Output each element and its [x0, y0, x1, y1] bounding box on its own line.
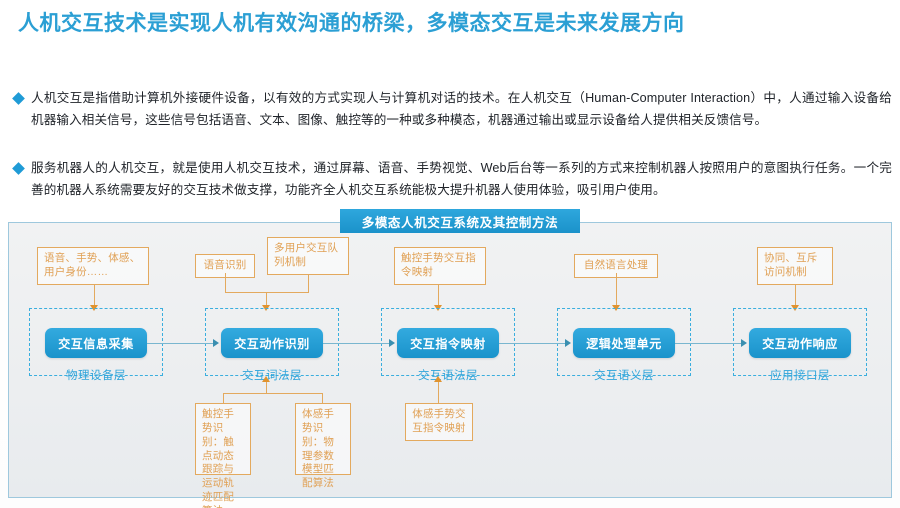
annotation-box-modalities: 语音、手势、体感、用户身份…… [37, 247, 149, 285]
process-box-logic-unit[interactable]: 逻辑处理单元 [573, 328, 675, 358]
annotation-box-motion-gesture-mapping: 体感手势交互指令映射 [405, 403, 473, 441]
diamond-bullet-icon [12, 92, 25, 105]
annotation-box-touch-gesture-mapping: 触控手势交互指令映射 [394, 247, 486, 285]
flow-arrow-icon [741, 339, 747, 347]
connector-line [223, 393, 323, 394]
paragraph-text: 服务机器人的人机交互，就是使用人机交互技术，通过屏幕、语音、手势视觉、Web后台… [31, 158, 892, 201]
flow-line [675, 343, 741, 344]
connector-line [795, 285, 796, 307]
flow-arrow-icon [389, 339, 395, 347]
flow-arrow-icon [213, 339, 219, 347]
layer-label-physical-device: 物理设备层 [29, 367, 163, 383]
connector-line [322, 393, 323, 403]
connector-line [225, 273, 226, 293]
layer-label-syntactic: 交互语法层 [381, 367, 515, 383]
diagram-banner-title: 多模态人机交互系统及其控制方法 [340, 209, 580, 233]
slide-root: 人机交互技术是实现人机有效沟通的桥梁，多模态交互是未来发展方向 人机交互是指借助… [0, 0, 900, 508]
paragraph-text: 人机交互是指借助计算机外接硬件设备，以有效的方式实现人与计算机对话的技术。在人机… [31, 88, 892, 131]
layer-label-lexical: 交互词法层 [205, 367, 339, 383]
annotation-box-multiuser-queue: 多用户交互队列机制 [267, 237, 349, 275]
layer-label-semantic: 交互语义层 [557, 367, 691, 383]
flow-arrow-icon [565, 339, 571, 347]
connector-line [308, 275, 309, 293]
connector-line [438, 285, 439, 307]
process-box-action-recognition[interactable]: 交互动作识别 [221, 328, 323, 358]
flow-line [499, 343, 565, 344]
connector-line [94, 285, 95, 307]
diamond-bullet-icon [12, 162, 25, 175]
page-title: 人机交互技术是实现人机有效沟通的桥梁，多模态交互是未来发展方向 [18, 10, 738, 39]
connector-line [223, 393, 224, 403]
connector-line [438, 382, 439, 403]
annotation-box-access-mechanism: 协同、互斥访问机制 [757, 247, 833, 285]
process-box-action-response[interactable]: 交互动作响应 [749, 328, 851, 358]
flow-line [147, 343, 213, 344]
body-paragraph-2: 服务机器人的人机交互，就是使用人机交互技术，通过屏幕、语音、手势视觉、Web后台… [14, 158, 892, 201]
annotation-box-touch-gesture-recognition: 触控手势识别：触点动态跟踪与运动轨迹匹配算法 [195, 403, 251, 475]
body-paragraph-1: 人机交互是指借助计算机外接硬件设备，以有效的方式实现人与计算机对话的技术。在人机… [14, 88, 892, 131]
flow-line [323, 343, 389, 344]
layer-label-application: 应用接口层 [733, 367, 867, 383]
diagram-panel: 语音、手势、体感、用户身份…… 语音识别 多用户交互队列机制 触控手势交互指令映… [8, 222, 892, 498]
connector-line [616, 273, 617, 307]
process-box-interaction-capture[interactable]: 交互信息采集 [45, 328, 147, 358]
annotation-box-motion-gesture-recognition: 体感手势识别：物理参数模型匹配算法 [295, 403, 351, 475]
connector-line [225, 292, 309, 293]
process-box-command-mapping[interactable]: 交互指令映射 [397, 328, 499, 358]
